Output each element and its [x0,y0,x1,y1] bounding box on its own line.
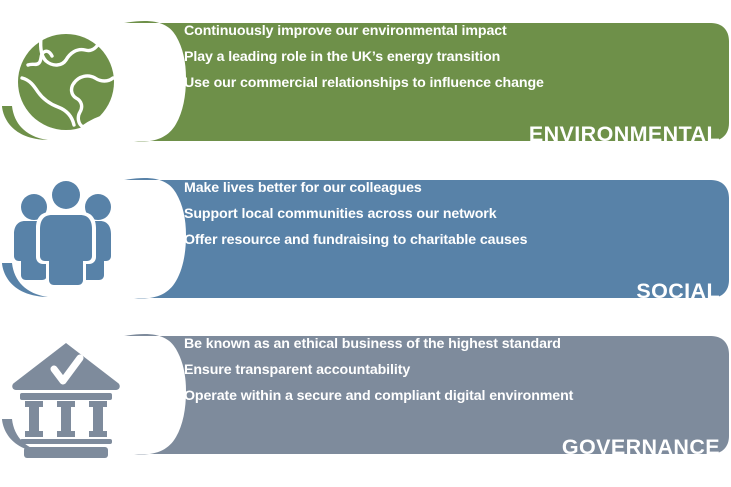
bullet-text: Offer resource and fundraising to charit… [184,232,527,248]
social-banner: Make lives better for our colleagues Sup… [108,157,731,312]
bullet-dot-icon [165,81,170,86]
bullet-dot-icon [165,212,170,217]
governance-bullet-list: Be known as an ethical business of the h… [156,336,573,405]
bullet-dot-icon [165,238,170,243]
category-label-social: SOCIAL [636,279,720,303]
category-label-environmental: ENVIRONMENTAL [529,122,720,146]
list-item: Ensure transparent accountability [156,362,573,379]
bullet-dot-icon [165,394,170,399]
category-label-governance: GOVERNANCE [562,435,720,459]
esg-section-environmental: Continuously improve our environmental i… [0,0,731,155]
bullet-text: Play a leading role in the UK’s energy t… [184,49,500,65]
bullet-text: Continuously improve our environmental i… [184,23,507,39]
list-item: Operate within a secure and compliant di… [156,388,573,405]
bullet-dot-icon [165,55,170,60]
social-bullet-list: Make lives better for our colleagues Sup… [156,180,527,249]
environmental-banner-content: Continuously improve our environmental i… [108,0,731,155]
esg-section-social: Make lives better for our colleagues Sup… [0,157,731,312]
bullet-dot-icon [165,29,170,34]
bullet-text: Ensure transparent accountability [184,362,410,378]
esg-section-governance: Be known as an ethical business of the h… [0,313,731,468]
bullet-text: Be known as an ethical business of the h… [184,336,561,352]
social-banner-content: Make lives better for our colleagues Sup… [108,157,731,312]
list-item: Be known as an ethical business of the h… [156,336,573,353]
bullet-dot-icon [165,186,170,191]
governance-banner-content: Be known as an ethical business of the h… [108,313,731,468]
bullet-text: Operate within a secure and compliant di… [184,388,573,404]
bullet-text: Use our commercial relationships to infl… [184,75,544,91]
bullet-dot-icon [165,342,170,347]
esg-infographic: Continuously improve our environmental i… [0,0,731,487]
list-item: Play a leading role in the UK’s energy t… [156,49,544,66]
governance-banner: Be known as an ethical business of the h… [108,313,731,468]
environmental-bullet-list: Continuously improve our environmental i… [156,23,544,92]
environmental-banner: Continuously improve our environmental i… [108,0,731,155]
list-item: Use our commercial relationships to infl… [156,75,544,92]
bullet-text: Make lives better for our colleagues [184,180,422,196]
bullet-text: Support local communities across our net… [184,206,497,222]
bullet-dot-icon [165,368,170,373]
list-item: Continuously improve our environmental i… [156,23,544,40]
list-item: Make lives better for our colleagues [156,180,527,197]
list-item: Offer resource and fundraising to charit… [156,232,527,249]
list-item: Support local communities across our net… [156,206,527,223]
